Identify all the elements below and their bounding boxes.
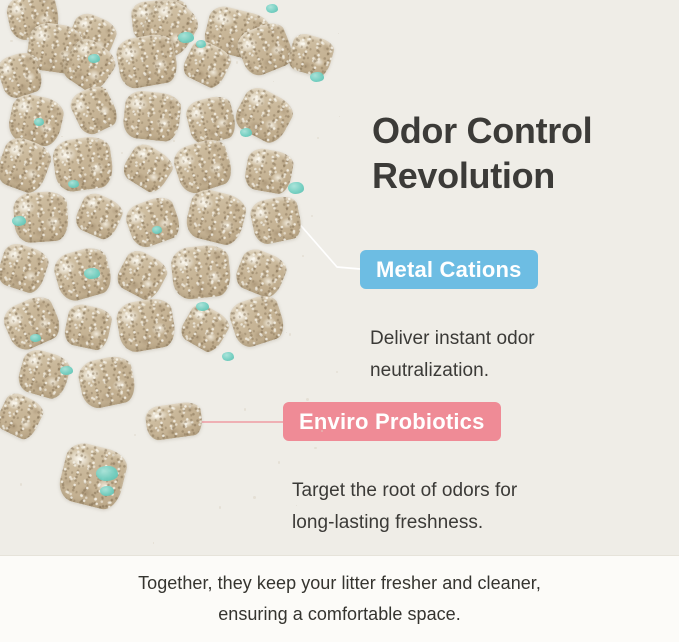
litter-granule	[51, 134, 116, 194]
dust-particle	[134, 434, 136, 436]
badge-enviro-probiotics: Enviro Probiotics	[283, 402, 501, 441]
litter-granule	[226, 291, 288, 350]
dust-particle	[236, 61, 239, 64]
dust-particle	[61, 136, 63, 138]
dust-particle	[273, 81, 274, 82]
litter-granule	[0, 389, 47, 442]
dust-particle	[121, 152, 123, 154]
probiotic-speck	[288, 182, 304, 194]
probiotic-speck	[12, 216, 26, 226]
probiotic-speck	[34, 118, 44, 126]
litter-granule	[50, 243, 115, 304]
litter-granule	[170, 135, 236, 197]
probiotic-speck	[240, 128, 252, 137]
litter-granule	[286, 31, 337, 79]
litter-granule	[72, 189, 127, 243]
page-title-line-1: Odor Control	[372, 110, 592, 151]
litter-granule	[114, 296, 178, 355]
badge-metal-cations-label: Metal Cations	[376, 257, 522, 283]
dust-particle	[311, 215, 313, 217]
dust-particle	[20, 483, 22, 485]
litter-granule	[232, 245, 290, 301]
badge-enviro-probiotics-label: Enviro Probiotics	[299, 409, 485, 435]
dust-particle	[302, 255, 304, 257]
litter-granule	[230, 82, 298, 147]
footer-summary-text: Together, they keep your litter fresher …	[60, 568, 620, 630]
footer-band: Together, they keep your litter fresher …	[0, 556, 679, 642]
dust-particle	[321, 430, 323, 432]
dust-particle	[286, 332, 288, 334]
dust-particle	[317, 137, 319, 139]
dust-particle	[278, 461, 280, 463]
litter-granule	[76, 353, 139, 411]
dust-particle	[338, 33, 340, 35]
description-enviro-probiotics-line-1: Target the root of odors for	[292, 480, 517, 501]
description-enviro-probiotics: Target the root of odors forlong-lasting…	[292, 475, 592, 538]
dust-particle	[244, 408, 247, 411]
litter-granule	[122, 89, 183, 143]
description-metal-cations-line-2: neutralization.	[370, 360, 489, 381]
footer-summary-line-2: ensuring a comfortable space.	[218, 604, 461, 624]
probiotic-speck	[266, 4, 278, 13]
litter-granule	[62, 302, 114, 352]
litter-granule	[144, 400, 204, 441]
dust-particle	[219, 506, 222, 509]
dust-particle	[289, 333, 291, 335]
probiotic-speck	[310, 72, 324, 82]
dust-particle	[314, 447, 316, 449]
main-panel: Odor ControlRevolution Metal Cations Del…	[0, 0, 679, 556]
description-metal-cations-line-1: Deliver instant odor	[370, 328, 535, 349]
litter-granule	[114, 31, 180, 90]
infographic-root: Odor ControlRevolution Metal Cations Del…	[0, 0, 679, 642]
litter-granule	[0, 240, 52, 296]
litter-granule	[183, 186, 249, 248]
probiotic-speck	[222, 352, 234, 361]
page-title-line-2: Revolution	[372, 155, 555, 196]
dust-particle	[173, 140, 175, 142]
litter-granule	[0, 291, 65, 354]
description-enviro-probiotics-line-2: long-lasting freshness.	[292, 512, 483, 533]
description-metal-cations: Deliver instant odorneutralization.	[370, 323, 650, 386]
probiotic-speck	[60, 366, 73, 375]
dust-particle	[339, 116, 340, 117]
badge-metal-cations: Metal Cations	[360, 250, 538, 289]
probiotic-speck	[84, 268, 100, 279]
litter-granule	[66, 81, 121, 138]
litter-granule-photo	[0, 0, 345, 556]
probiotic-speck	[196, 302, 209, 311]
dust-particle	[306, 398, 309, 401]
probiotic-speck	[100, 486, 114, 496]
probiotic-speck	[88, 54, 100, 63]
page-title: Odor ControlRevolution	[372, 108, 672, 199]
litter-granule	[56, 439, 131, 512]
dust-particle	[153, 542, 154, 543]
probiotic-speck	[96, 466, 118, 481]
probiotic-speck	[196, 40, 206, 48]
litter-granule	[248, 193, 304, 246]
probiotic-speck	[30, 334, 41, 342]
litter-granule	[119, 139, 178, 196]
litter-granule	[113, 246, 172, 304]
dust-particle	[336, 371, 338, 373]
probiotic-speck	[152, 226, 162, 234]
probiotic-speck	[178, 32, 194, 43]
litter-granule	[169, 243, 232, 301]
dust-particle	[253, 496, 256, 499]
footer-summary-line-1: Together, they keep your litter fresher …	[138, 573, 541, 593]
probiotic-speck	[68, 180, 79, 188]
dust-particle	[10, 40, 12, 42]
litter-granule	[122, 193, 184, 251]
